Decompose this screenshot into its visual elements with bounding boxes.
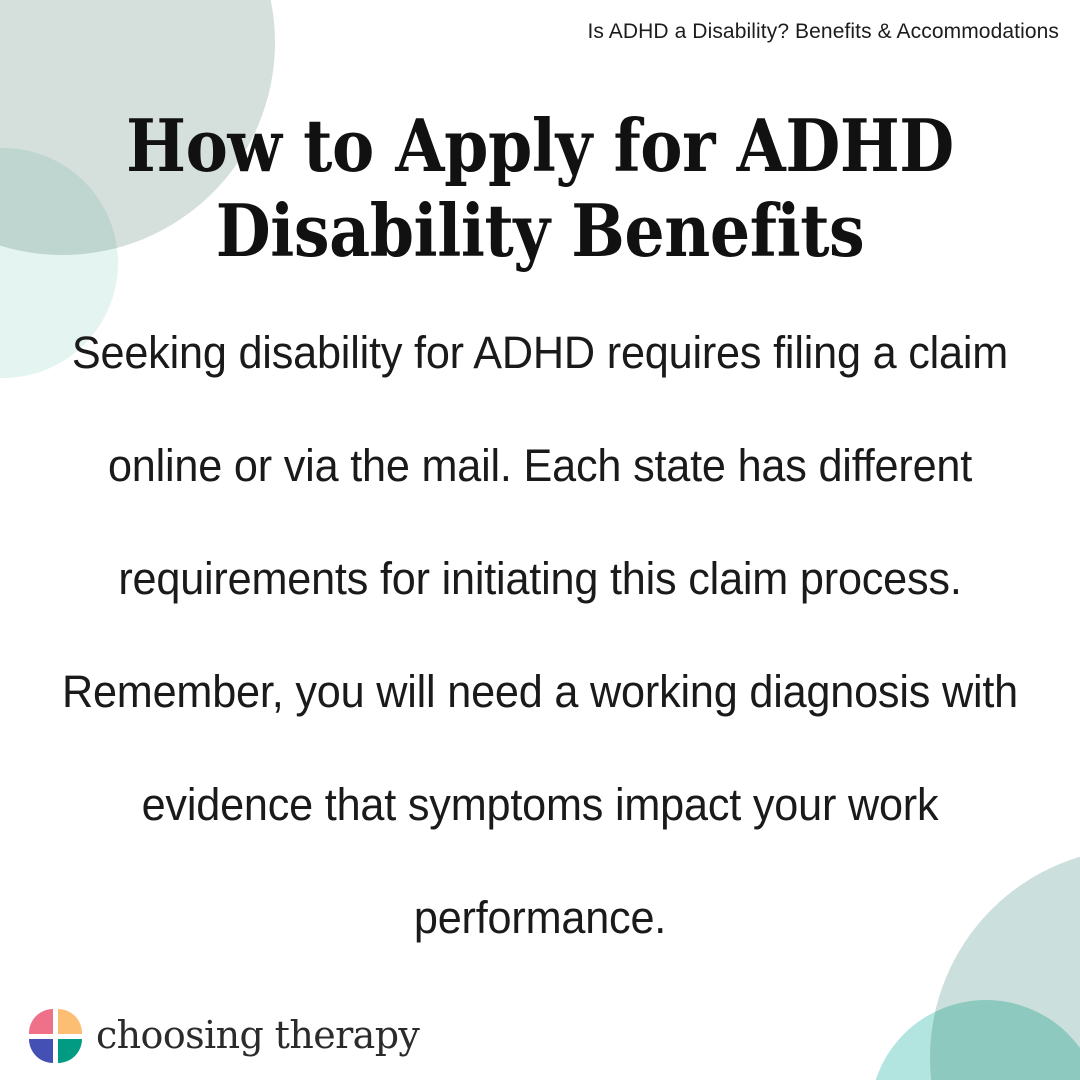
- article-title-eyebrow: Is ADHD a Disability? Benefits & Accommo…: [587, 19, 1059, 44]
- brand-wordmark: choosing therapy: [96, 1016, 419, 1057]
- logo-quadrant-top-left: [29, 1009, 53, 1034]
- social-card: Is ADHD a Disability? Benefits & Accommo…: [0, 0, 1080, 1080]
- logo-quadrant-bottom-right: [58, 1039, 82, 1064]
- page-title: How to Apply for ADHD Disability Benefit…: [118, 104, 963, 274]
- card-content: Is ADHD a Disability? Benefits & Accommo…: [0, 0, 1080, 1080]
- brand-logo[interactable]: choosing therapy: [29, 1009, 419, 1063]
- logo-quadrant-bottom-left: [29, 1039, 53, 1064]
- choosing-therapy-logo-icon: [29, 1009, 82, 1063]
- logo-quadrant-top-right: [58, 1009, 82, 1034]
- body-paragraph: Seeking disability for ADHD requires fil…: [60, 296, 1020, 974]
